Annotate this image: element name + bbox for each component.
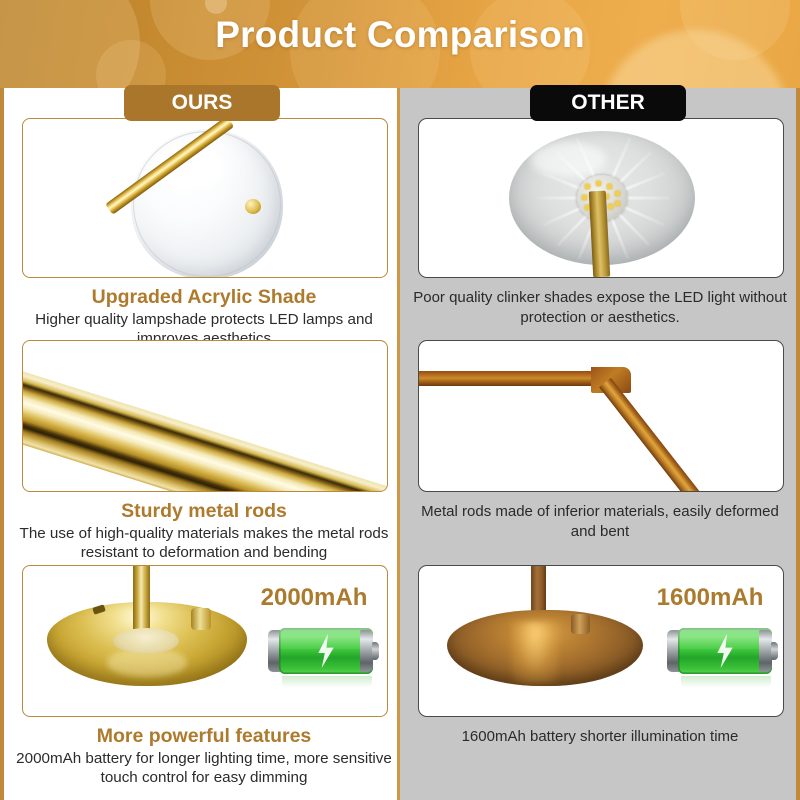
base-knob-shape: [191, 608, 211, 630]
battery-icon: [268, 628, 383, 688]
ours-battery-capacity-label: 2000mAh: [249, 584, 379, 612]
header-banner: Product Comparison: [0, 0, 800, 88]
other-battery-capacity-label: 1600mAh: [645, 584, 775, 612]
ours-body-battery: 2000mAh battery for longer lighting time…: [10, 749, 398, 787]
ours-section-rods: Sturdy metal rods The use of high-qualit…: [4, 340, 404, 565]
battery-terminal-nub: [372, 642, 379, 660]
battery-reflection: [681, 676, 771, 688]
rod-cap-shape: [245, 199, 261, 214]
other-column: OTHER: [400, 88, 800, 800]
polished-gold-rod-shape: [22, 353, 388, 492]
other-body-battery: 1600mAh battery shorter illumination tim…: [410, 727, 790, 747]
bronze-lamp-base-photo: 1600mAh: [418, 565, 784, 717]
acrylic-shade-photo: [22, 118, 388, 278]
bokeh-circle: [205, 0, 227, 14]
base-glow: [511, 622, 559, 684]
ours-heading-shade: Upgraded Acrylic Shade: [4, 286, 404, 309]
other-section-shade: Poor quality clinker shades expose the L…: [400, 118, 800, 340]
ours-body-rods: The use of high-quality materials makes …: [10, 524, 398, 562]
battery-icon: [667, 628, 782, 688]
tab-other[interactable]: OTHER: [530, 85, 686, 121]
shade-highlight: [531, 142, 605, 177]
rod-diagonal-segment: [599, 378, 740, 492]
tab-ours[interactable]: OURS: [124, 85, 280, 121]
ours-section-shade: Upgraded Acrylic Shade Higher quality la…: [4, 118, 404, 340]
battery-reflection: [282, 676, 372, 688]
ours-column: OURS Upgraded Acrylic Shade Higher quali…: [0, 88, 400, 800]
other-body-rods: Metal rods made of inferior materials, e…: [410, 502, 790, 541]
other-body-shade: Poor quality clinker shades expose the L…: [410, 288, 790, 327]
other-section-battery: 1600mAh 1600mAh battery shorter illumina…: [400, 565, 800, 797]
gold-lamp-base-photo: 2000mAh: [22, 565, 388, 717]
rod-horizontal-segment: [418, 371, 605, 386]
ours-section-battery: 2000mAh More powerful features 2000mAh b…: [4, 565, 404, 797]
other-section-rods: Metal rods made of inferior materials, e…: [400, 340, 800, 565]
clinker-shade-photo: [418, 118, 784, 278]
ours-heading-rods: Sturdy metal rods: [4, 500, 404, 523]
comparison-infographic: Product Comparison OURS Upgraded Acrylic…: [0, 0, 800, 800]
base-hub-shape: [113, 628, 179, 654]
ours-heading-battery: More powerful features: [4, 725, 404, 748]
bent-bronze-rod-photo: [418, 340, 784, 492]
base-knob-shape: [571, 614, 590, 634]
battery-terminal-nub: [771, 642, 778, 660]
gold-metal-rod-photo: [22, 340, 388, 492]
page-title: Product Comparison: [0, 14, 800, 56]
